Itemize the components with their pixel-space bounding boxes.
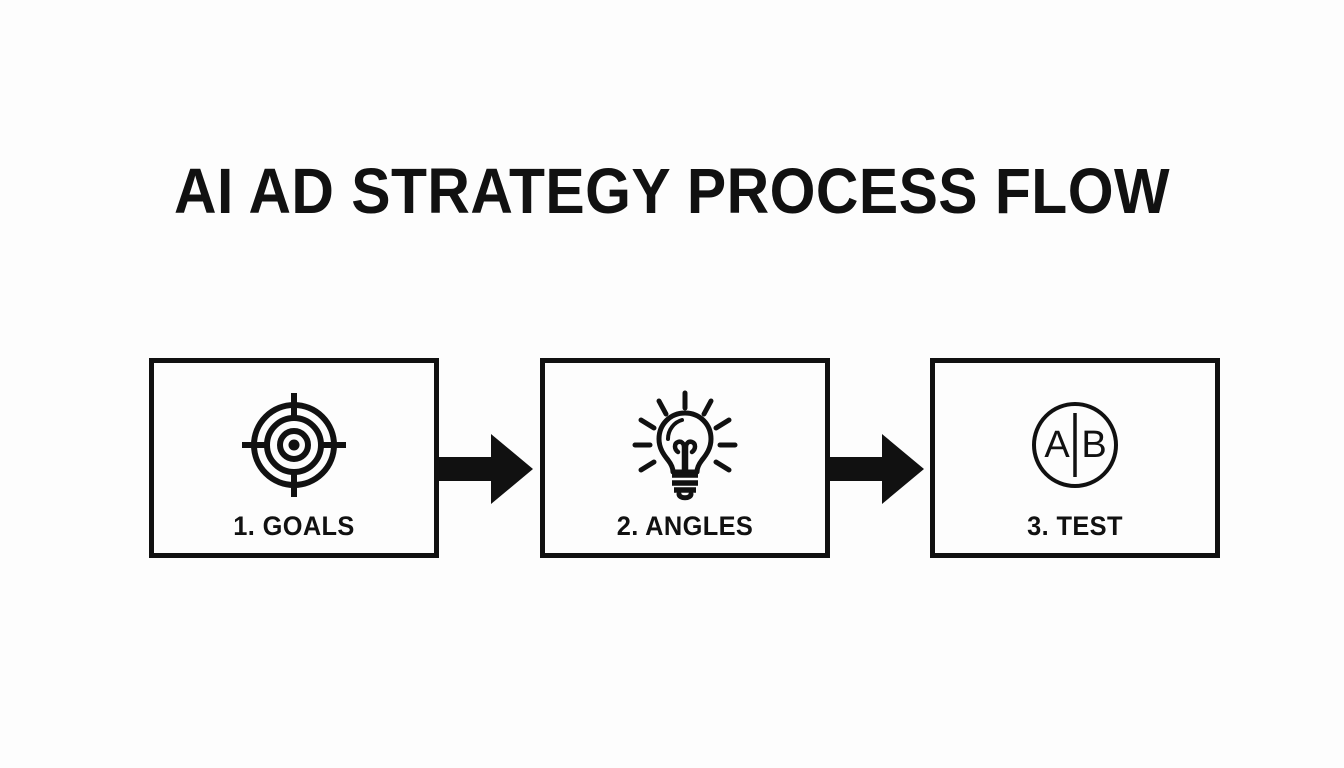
- process-flow-diagram: 1. GOALS: [149, 358, 1220, 558]
- step-label-test: 3. TEST: [943, 511, 1206, 541]
- ab-test-icon: A B: [935, 385, 1215, 505]
- lightbulb-idea-icon: [545, 385, 825, 505]
- ab-test-letter-b: B: [1081, 424, 1106, 466]
- target-crosshair-icon: [154, 385, 434, 505]
- page-title: AI AD STRATEGY PROCESS FLOW: [54, 155, 1290, 227]
- slide-canvas: AI AD STRATEGY PROCESS FLOW: [0, 0, 1344, 768]
- step-box-angles[interactable]: 2. ANGLES: [540, 358, 830, 558]
- ab-test-letter-a: A: [1044, 424, 1070, 466]
- step-label-angles: 2. ANGLES: [553, 511, 816, 541]
- step-label-goals: 1. GOALS: [162, 511, 425, 541]
- arrow-right-icon: [830, 430, 926, 508]
- arrow-right-icon: [439, 430, 535, 508]
- step-box-goals[interactable]: 1. GOALS: [149, 358, 439, 558]
- step-box-test[interactable]: A B 3. TEST: [930, 358, 1220, 558]
